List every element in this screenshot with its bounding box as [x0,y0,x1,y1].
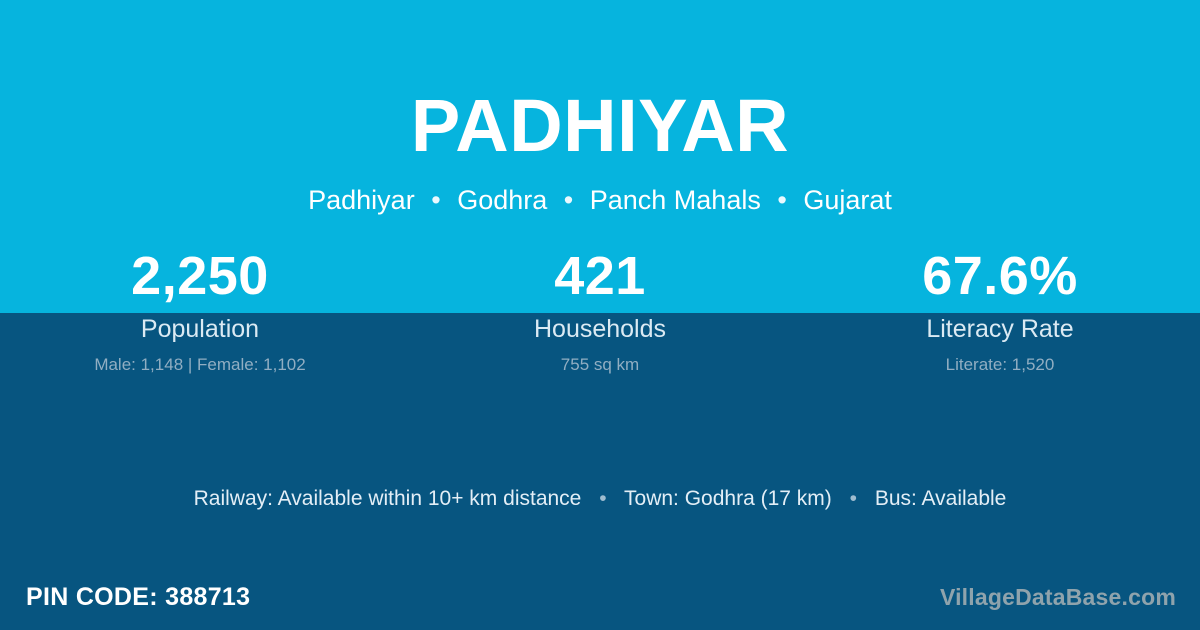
stat-sublabel: 755 sq km [400,354,800,376]
stat-label: Literacy Rate [800,314,1200,344]
stat-label: Households [400,314,800,344]
stat-value: 2,250 [0,243,400,309]
amenity-town: Town: Godhra (17 km) [624,487,832,510]
breadcrumb-item-state[interactable]: Gujarat [803,185,892,215]
amenity-bus: Bus: Available [875,487,1007,510]
stats-row: 2,250 Population Male: 1,148 | Female: 1… [0,243,1200,376]
stat-literacy-rate: 67.6% Literacy Rate Literate: 1,520 [800,243,1200,376]
breadcrumb-item-district[interactable]: Panch Mahals [590,185,761,215]
breadcrumb: Padhiyar • Godhra • Panch Mahals • Gujar… [0,182,1200,218]
amenity-separator: • [587,484,618,514]
breadcrumb-separator: • [422,182,449,218]
stat-label: Population [0,314,400,344]
amenity-separator: • [838,484,869,514]
site-brand[interactable]: VillageDataBase.com [940,582,1200,612]
stat-value: 421 [400,243,800,309]
amenity-railway: Railway: Available within 10+ km distanc… [194,487,582,510]
breadcrumb-item-subdistrict[interactable]: Godhra [457,185,547,215]
stat-value: 67.6% [800,243,1200,309]
village-info-card: PADHIYAR Padhiyar • Godhra • Panch Mahal… [0,0,1200,630]
breadcrumb-item-village[interactable]: Padhiyar [308,185,415,215]
page-title: PADHIYAR [0,80,1200,172]
footer-bar: PIN CODE: 388713 VillageDataBase.com [0,564,1200,630]
stat-population: 2,250 Population Male: 1,148 | Female: 1… [0,243,400,376]
breadcrumb-separator: • [555,182,582,218]
breadcrumb-separator: • [768,182,795,218]
stat-households: 421 Households 755 sq km [400,243,800,376]
pin-code: PIN CODE: 388713 [0,582,250,612]
stat-sublabel: Male: 1,148 | Female: 1,102 [0,354,400,376]
stat-sublabel: Literate: 1,520 [800,354,1200,376]
amenities-line: Railway: Available within 10+ km distanc… [0,484,1200,514]
